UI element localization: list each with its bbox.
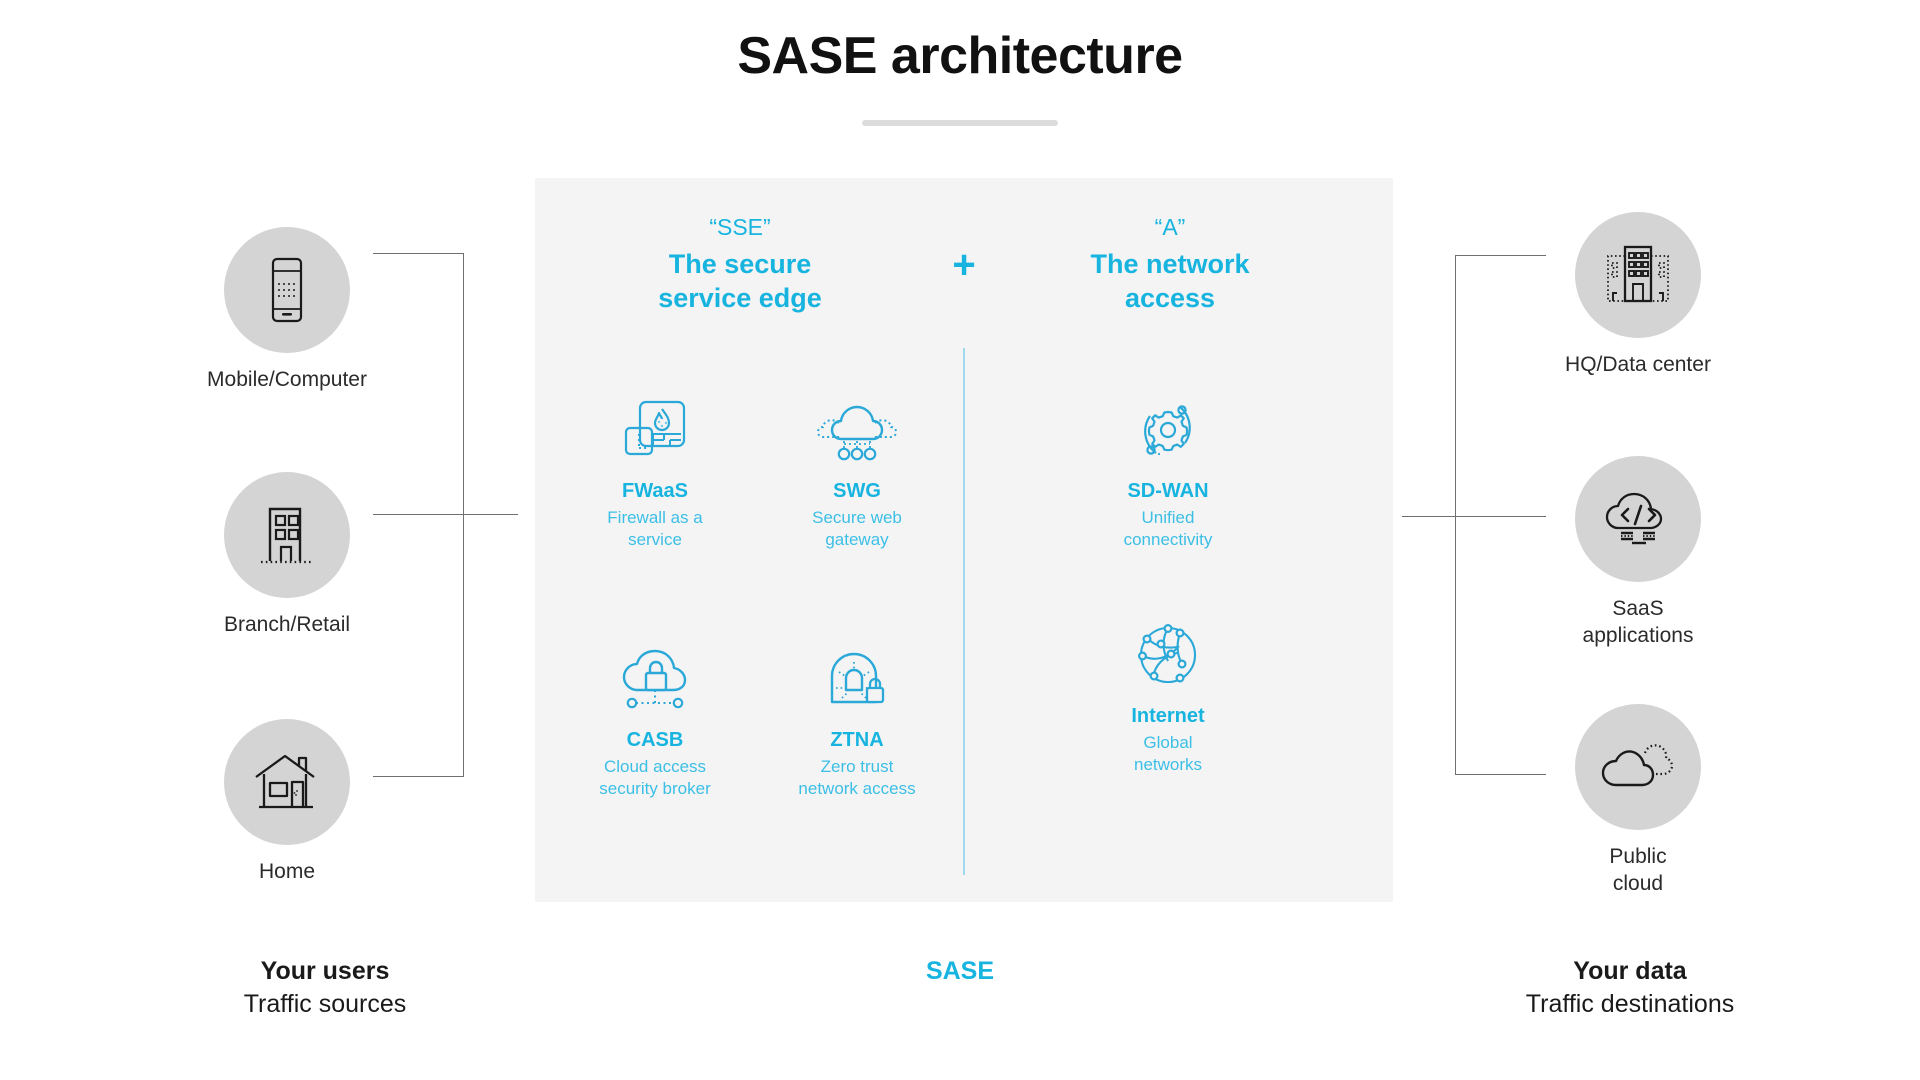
node-label: Public cloud	[1513, 844, 1763, 898]
office-building-icon	[256, 503, 318, 567]
service-abbr: FWaaS	[555, 479, 755, 503]
plus-icon: +	[940, 245, 988, 285]
service-ztna[interactable]: ZTNA Zero trust network access	[757, 644, 957, 800]
avatar-bubble	[1575, 456, 1701, 582]
avatar-bubble	[224, 472, 350, 598]
column-divider	[963, 348, 965, 875]
connector-saas-horizontal	[1402, 516, 1546, 517]
avatar-bubble	[1575, 704, 1701, 830]
service-desc-line2: connectivity	[1068, 529, 1268, 551]
node-label-line1: Public	[1513, 844, 1763, 871]
connector-public-horizontal	[1456, 774, 1546, 775]
service-abbr: SWG	[757, 479, 957, 503]
service-desc-line2: gateway	[757, 529, 957, 551]
mobile-phone-icon	[264, 257, 310, 323]
footer-center: SASE	[810, 955, 1110, 988]
sse-column-header: “SSE” The secure service edge	[570, 213, 910, 315]
service-abbr: SD-WAN	[1068, 479, 1268, 503]
sse-quote: “SSE”	[570, 213, 910, 242]
footer-center-title: SASE	[810, 955, 1110, 988]
footer-right-title: Your data	[1400, 955, 1860, 988]
footer-right-subtitle: Traffic destinations	[1400, 988, 1860, 1021]
globe-network-icon	[1068, 620, 1268, 690]
service-desc-line1: Global	[1068, 732, 1268, 754]
firewall-icon	[555, 395, 755, 465]
source-node-home[interactable]: Home	[162, 719, 412, 886]
node-label: Mobile/Computer	[162, 367, 412, 394]
service-desc-line2: service	[555, 529, 755, 551]
service-abbr: Internet	[1068, 704, 1268, 728]
node-label: Home	[162, 859, 412, 886]
service-casb[interactable]: CASB Cloud access security broker	[555, 644, 755, 800]
access-name-line1: The network	[1000, 248, 1340, 282]
destination-node-public-cloud[interactable]: Public cloud	[1513, 704, 1763, 898]
service-sdwan[interactable]: SD-WAN Unified connectivity	[1068, 395, 1268, 551]
service-desc-line1: Unified	[1068, 507, 1268, 529]
service-desc-line2: network access	[757, 778, 957, 800]
node-label-line2: cloud	[1513, 871, 1763, 898]
house-icon	[253, 753, 321, 811]
cloud-gateway-icon	[757, 395, 957, 465]
destination-node-saas[interactable]: SaaS applications	[1513, 456, 1763, 650]
gear-orbit-icon	[1068, 395, 1268, 465]
access-quote: “A”	[1000, 213, 1340, 242]
footer-left-subtitle: Traffic sources	[125, 988, 525, 1021]
avatar-bubble	[1575, 212, 1701, 338]
connector-right-vertical	[1455, 255, 1456, 775]
source-node-branch[interactable]: Branch/Retail	[162, 472, 412, 639]
service-fwaas[interactable]: FWaaS Firewall as a service	[555, 395, 755, 551]
connector-home-horizontal	[373, 776, 464, 777]
service-abbr: ZTNA	[757, 728, 957, 752]
node-label: Branch/Retail	[162, 612, 412, 639]
service-desc-line1: Secure web	[757, 507, 957, 529]
service-abbr: CASB	[555, 728, 755, 752]
datacenter-building-icon	[1600, 244, 1676, 306]
double-cloud-icon	[1599, 741, 1677, 793]
node-label: HQ/Data center	[1513, 352, 1763, 379]
access-name-line2: access	[1000, 282, 1340, 316]
sse-name-line2: service edge	[570, 282, 910, 316]
footer-left-title: Your users	[125, 955, 525, 988]
avatar-bubble	[224, 719, 350, 845]
service-desc-line1: Zero trust	[757, 756, 957, 778]
service-swg[interactable]: SWG Secure web gateway	[757, 395, 957, 551]
service-desc-line2: networks	[1068, 754, 1268, 776]
diagram-canvas: SASE architecture “SSE” The secure servi…	[0, 0, 1920, 1080]
connector-mobile-horizontal	[373, 253, 464, 254]
avatar-bubble	[224, 227, 350, 353]
connector-branch-horizontal	[373, 514, 518, 515]
connector-hq-horizontal	[1456, 255, 1546, 256]
footer-right: Your data Traffic destinations	[1400, 955, 1860, 1020]
access-column-header: “A” The network access	[1000, 213, 1340, 315]
vault-lock-icon	[757, 644, 957, 714]
footer-left: Your users Traffic sources	[125, 955, 525, 1020]
cloud-lock-icon	[555, 644, 755, 714]
node-label: SaaS applications	[1513, 596, 1763, 650]
service-desc-line1: Firewall as a	[555, 507, 755, 529]
cloud-code-icon	[1602, 489, 1674, 549]
page-title: SASE architecture	[0, 26, 1920, 86]
title-divider	[862, 120, 1058, 126]
destination-node-hq[interactable]: HQ/Data center	[1513, 212, 1763, 379]
sse-name-line1: The secure	[570, 248, 910, 282]
node-label-line2: applications	[1513, 623, 1763, 650]
service-desc-line2: security broker	[555, 778, 755, 800]
service-desc-line1: Cloud access	[555, 756, 755, 778]
service-internet[interactable]: Internet Global networks	[1068, 620, 1268, 776]
node-label-line1: SaaS	[1513, 596, 1763, 623]
